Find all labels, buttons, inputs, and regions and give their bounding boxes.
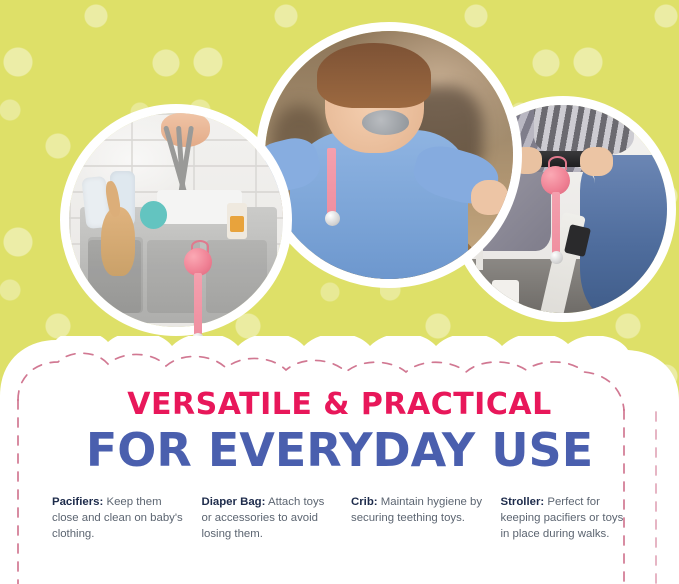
right-hand (580, 147, 613, 176)
diaper-caddy-photo-image (69, 113, 283, 327)
clip-ribbon (194, 273, 202, 335)
feature-item-diaper-bag: Diaper Bag: Attach toys or accessories t… (202, 494, 336, 542)
pacifier-shield (362, 110, 409, 135)
pacifier-clip-caddy (178, 240, 218, 345)
feature-label: Crib: (351, 496, 378, 508)
headline-line-1: VERSATILE & PRACTICAL (0, 387, 679, 422)
baby-pacifier-photo-image (265, 31, 513, 279)
feature-label: Pacifiers: (52, 496, 103, 508)
infographic-canvas: VERSATILE & PRACTICAL FOR EVERYDAY USE P… (0, 0, 679, 584)
person-striped-shirt (534, 96, 634, 155)
lotion-bottle (227, 203, 246, 239)
baby-right-hand (471, 180, 508, 215)
diaper-caddy-photo (60, 104, 292, 336)
clip-metal-clasp (550, 251, 563, 264)
feature-columns: Pacifiers: Keep them close and clean on … (52, 494, 634, 542)
teal-toy (140, 201, 168, 229)
pacifier-clip-stroller (538, 156, 572, 266)
clip-ribbon (552, 192, 560, 254)
clip-pink-ball (184, 248, 212, 276)
feature-label: Diaper Bag: (202, 496, 266, 508)
text-block: VERSATILE & PRACTICAL FOR EVERYDAY USE P… (0, 336, 679, 584)
headline-line-2: FOR EVERYDAY USE (0, 423, 679, 477)
photo-cluster (0, 0, 679, 345)
clip-pink-ball (541, 166, 570, 195)
baby-pacifier-photo (256, 22, 522, 288)
feature-item-pacifiers: Pacifiers: Keep them close and clean on … (52, 494, 186, 542)
giraffe-toy (101, 207, 135, 275)
baby-hair (317, 43, 431, 107)
clip-metal-clasp (325, 211, 340, 226)
clip-ribbon (327, 148, 336, 214)
pacifier-clip-baby (317, 148, 351, 248)
feature-item-stroller: Stroller: Perfect for keeping pacifiers … (501, 494, 635, 542)
cup (492, 280, 519, 307)
feature-label: Stroller: (501, 496, 545, 508)
feature-item-crib: Crib: Maintain hygiene by securing teeth… (351, 494, 485, 542)
